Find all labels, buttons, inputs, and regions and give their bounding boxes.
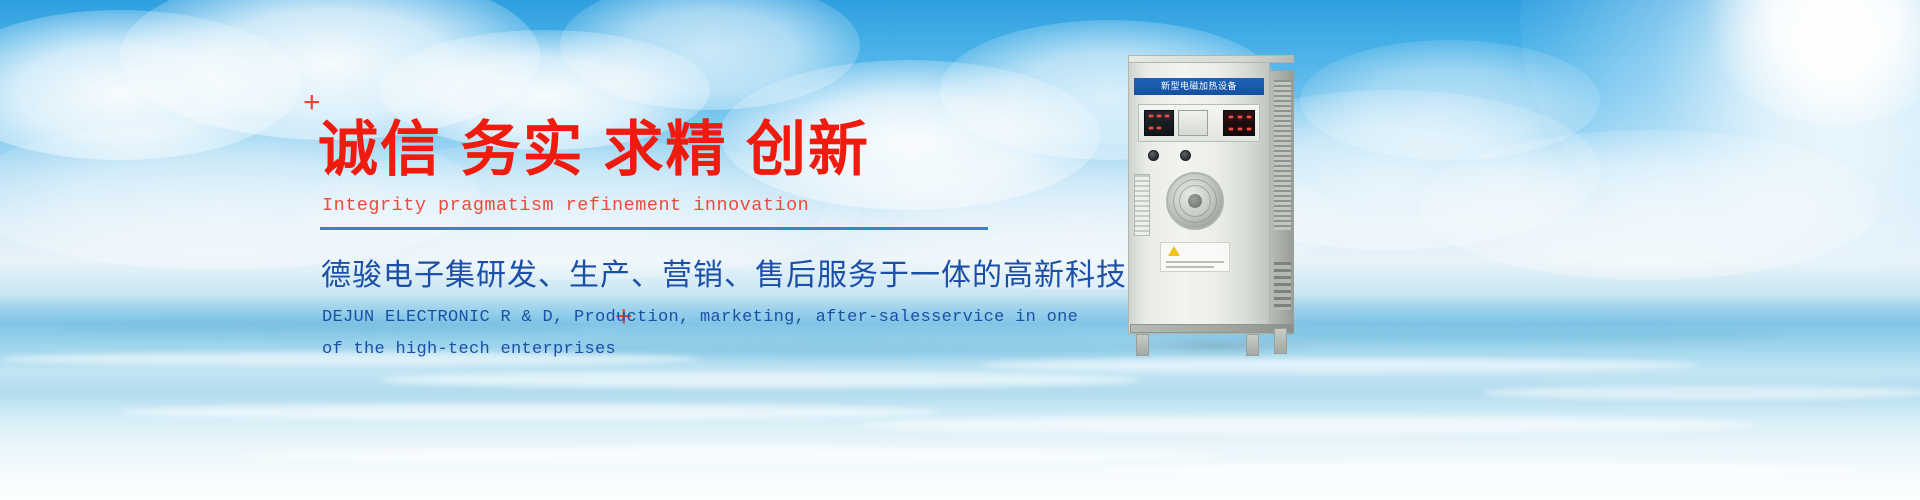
fan-vent-icon (1166, 172, 1224, 230)
headline-chinese: 诚信 务实 求精 创新 (318, 118, 1018, 181)
fan-hub (1188, 194, 1202, 208)
control-panel (1138, 104, 1260, 142)
side-vent-slats (1134, 174, 1150, 236)
wave-shape (380, 372, 1140, 388)
cabinet-base (1130, 324, 1294, 333)
cloud-shape (560, 0, 860, 110)
control-knob (1180, 150, 1191, 161)
tagline-english-line1: DEJUN ELECTRONIC R & D, Production, mark… (322, 303, 1018, 333)
divider-line (320, 227, 988, 230)
promotional-banner: + + 诚信 务实 求精 创新 Integrity pragmatism ref… (0, 0, 1920, 500)
control-knob (1148, 150, 1159, 161)
cloud-shape (1300, 40, 1600, 160)
ventilation-grille-lower (1274, 262, 1291, 310)
wave-shape (240, 446, 1220, 464)
wave-shape (860, 416, 1760, 434)
sun-core (1700, 0, 1920, 124)
wave-shape (980, 358, 1700, 372)
analog-gauge (1178, 110, 1208, 136)
wave-shape (1100, 462, 1860, 478)
display-meter-left (1144, 110, 1174, 136)
ventilation-grille-upper (1274, 80, 1291, 230)
cabinet-foot (1246, 334, 1259, 356)
cloud-shape (1420, 130, 1880, 280)
sun-glow (1520, 0, 1920, 270)
tagline-english-line2: of the high-tech enterprises (322, 335, 1018, 365)
product-image-heating-cabinet: 新型电磁加热设备 (1128, 62, 1296, 352)
wave-shape (1480, 386, 1920, 400)
display-meter-right (1223, 110, 1255, 136)
product-label: 新型电磁加热设备 (1134, 78, 1264, 95)
tagline-chinese: 德骏电子集研发、生产、营销、售后服务于一体的高新科技企业 (321, 250, 1018, 294)
banner-text-block: 诚信 务实 求精 创新 Integrity pragmatism refinem… (318, 96, 1018, 365)
cabinet-foot (1274, 328, 1287, 354)
headline-english: Integrity pragmatism refinement innovati… (322, 195, 1018, 216)
warning-triangle-icon (1168, 246, 1180, 256)
wave-shape (120, 404, 940, 420)
cabinet-foot (1136, 334, 1149, 356)
cloud-shape (0, 10, 300, 160)
